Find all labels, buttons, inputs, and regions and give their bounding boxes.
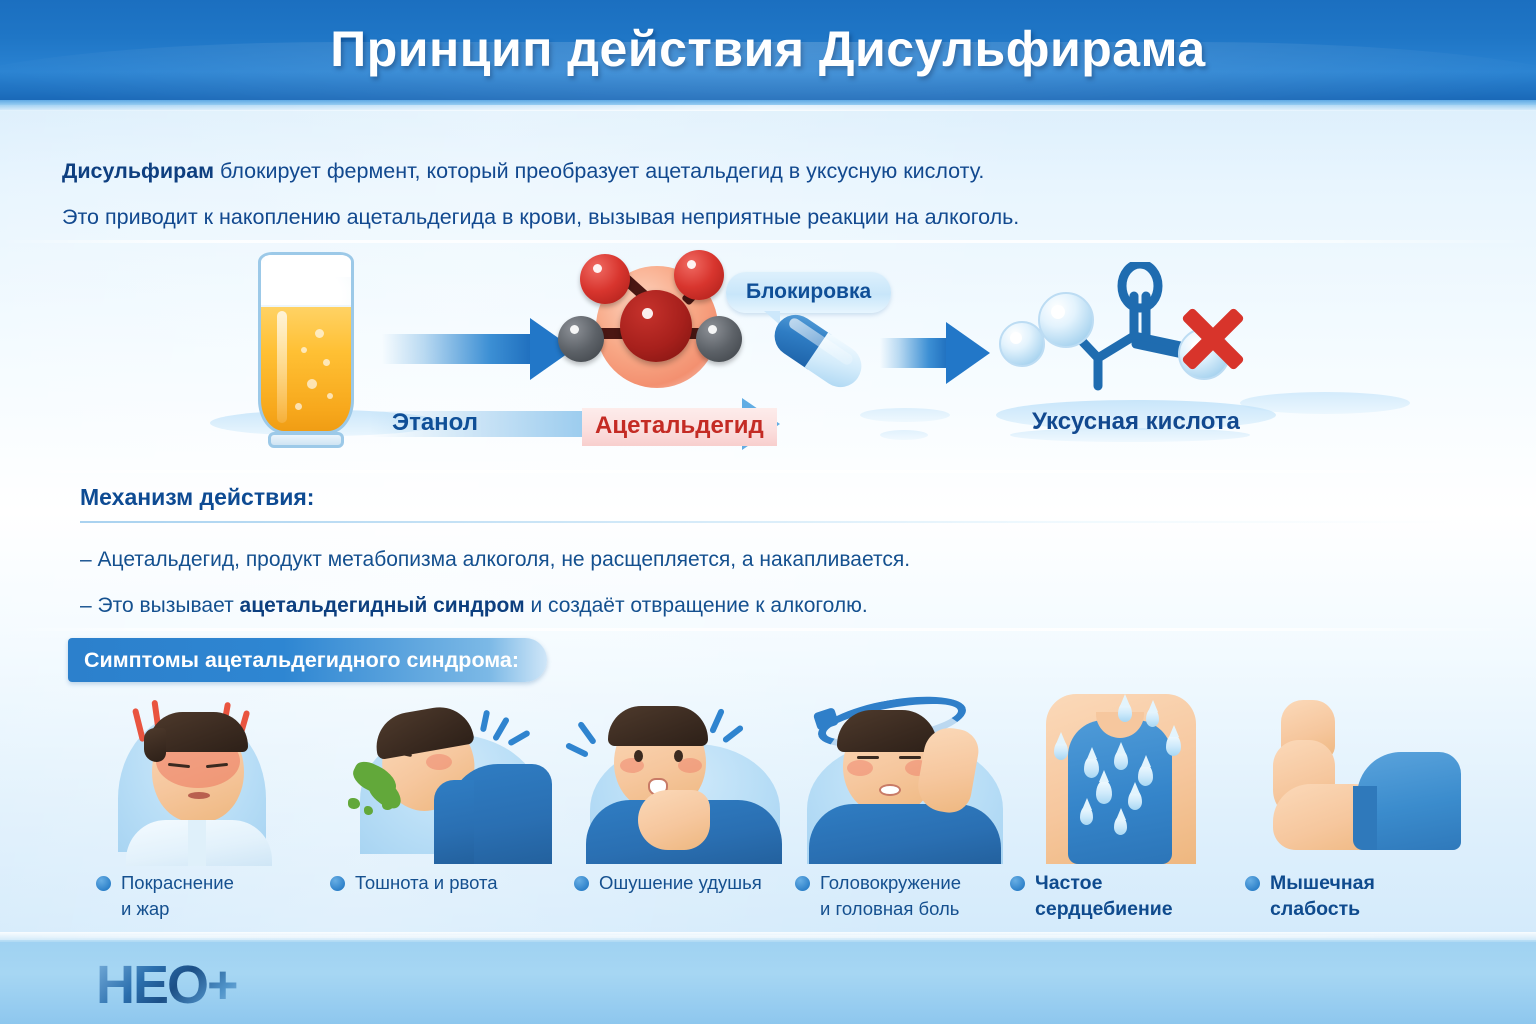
section-divider-mid xyxy=(0,470,1536,473)
header-edge-highlight xyxy=(0,105,1536,111)
hydrogen-sphere xyxy=(1000,322,1044,366)
arrow-ethanol-to-acetaldehyde xyxy=(382,318,574,380)
bubble xyxy=(315,329,324,338)
beer-glass-icon xyxy=(252,252,360,442)
intro-line-1: Дисульфирам блокирует фермент, который п… xyxy=(62,148,1462,194)
symptom-caption: Тошнота и рвота xyxy=(330,870,570,896)
flexed-arm-icon xyxy=(1245,694,1475,864)
bullet-dash: – xyxy=(80,548,92,571)
symptom-card-dizzy: Головокружениеи головная боль xyxy=(795,694,1025,944)
mechanism-item-2: – Это вызывает ацетальдегидный синдром и… xyxy=(80,583,1460,629)
vomiting-person-icon xyxy=(330,694,560,864)
beer-foam xyxy=(261,255,351,307)
hydrogen-atom-icon xyxy=(558,316,604,362)
bullet-dash: – xyxy=(80,594,92,617)
bubble xyxy=(327,393,333,399)
symptom-card-vomit: Тошнота и рвота xyxy=(330,694,560,944)
intro-drug-name: Дисульфирам xyxy=(62,159,214,183)
glass-shine xyxy=(277,311,287,423)
bubble xyxy=(295,403,302,410)
glass-body xyxy=(258,252,354,434)
mechanism-rule xyxy=(80,521,1460,523)
bullet-dot-icon xyxy=(330,876,345,891)
bubble xyxy=(323,359,330,366)
intro-line-2: Это приводит к накоплению ацетальдегида … xyxy=(62,194,1462,240)
page-header: Принцип действия Дисульфирама xyxy=(0,0,1536,100)
bullet-dot-icon xyxy=(1010,876,1025,891)
mechanism-list: – Ацетальдегид, продукт метабопизма алко… xyxy=(80,537,1460,629)
brand-logo: НЕО+ xyxy=(96,954,237,1016)
intro-line-1-rest: блокирует фермент, который преобразует а… xyxy=(214,159,984,183)
symptom-caption: Покраснениеи жар xyxy=(96,870,336,922)
symptom-caption: Ошушение удушья xyxy=(574,870,814,896)
acetic-acid-label: Уксусная кислота xyxy=(1032,408,1240,436)
symptom-caption: Частоесердцебиение xyxy=(1010,870,1250,922)
symptom-label: Головокружениеи головная боль xyxy=(820,870,961,922)
mechanism-item-1-text: Ацетальдегид, продукт метабопизма алкого… xyxy=(98,548,911,571)
oxygen-atom-icon xyxy=(580,254,630,304)
puddle-mid-2 xyxy=(880,430,928,440)
bullet-dot-icon xyxy=(795,876,810,891)
blocked-x-icon xyxy=(1176,302,1250,376)
symptom-caption: Головокружениеи головная боль xyxy=(795,870,1035,922)
symptom-label: Ошушение удушья xyxy=(599,870,762,896)
block-badge: Блокировка xyxy=(726,272,891,313)
glass-base xyxy=(268,432,344,448)
puddle-mid xyxy=(860,408,950,422)
mechanism-section: Механизм действия: – Ацетальдегид, проду… xyxy=(80,484,1460,629)
acetic-acid-molecule-icon xyxy=(994,262,1284,392)
bubble xyxy=(301,347,307,353)
carbon-atom-icon xyxy=(620,290,692,362)
puddle-right-2 xyxy=(1240,392,1410,414)
sweating-torso-icon xyxy=(1010,694,1240,864)
page-footer: НЕО+ xyxy=(0,940,1536,1024)
mechanism-item-1: – Ацетальдегид, продукт метабопизма алко… xyxy=(80,537,1460,583)
symptom-label: Частоесердцебиение xyxy=(1035,870,1173,922)
flushed-face-icon xyxy=(96,694,326,864)
symptom-card-weakness: Мышечнаяслабость xyxy=(1245,694,1475,944)
symptom-card-heartbeat: Частоесердцебиение xyxy=(1010,694,1240,944)
symptom-card-choking: Ошушение удушья xyxy=(574,694,804,944)
intro-text-block: Дисульфирам блокирует фермент, который п… xyxy=(62,148,1462,240)
ethanol-label: Этанол xyxy=(392,409,478,437)
mechanism-item-2-pre: Это вызывает xyxy=(98,594,240,617)
symptom-caption: Мышечнаяслабость xyxy=(1245,870,1485,922)
mechanism-heading: Механизм действия: xyxy=(80,484,1460,511)
carbon-sphere xyxy=(1039,293,1093,347)
sleeve-fold xyxy=(1353,786,1377,850)
symptoms-banner: Симптомы ацетальдегидного синдрома: xyxy=(68,638,547,682)
acetaldehyde-molecule-icon xyxy=(556,258,756,393)
bullet-dot-icon xyxy=(574,876,589,891)
carbonyl-oxygen xyxy=(1122,264,1158,308)
mechanism-item-2-post: и создаёт отвращение к алкоголю. xyxy=(525,594,868,617)
hydrogen-atom-icon xyxy=(696,316,742,362)
symptoms-row: Покраснениеи жар xyxy=(0,694,1536,944)
mechanism-item-2-bold: ацетальдегидный синдром xyxy=(240,594,525,617)
infographic-page: Принцип действия Дисульфирама Дисульфира… xyxy=(0,0,1536,1024)
bullet-dot-icon xyxy=(1245,876,1260,891)
symptom-label: Покраснениеи жар xyxy=(121,870,234,922)
footer-top-edge xyxy=(0,932,1536,942)
choking-person-icon xyxy=(574,694,804,864)
symptom-label: Мышечнаяслабость xyxy=(1270,870,1375,922)
dizzy-headache-icon xyxy=(795,694,1025,864)
arrow-to-acetic-acid xyxy=(880,322,990,384)
bubble xyxy=(307,379,317,389)
bullet-dot-icon xyxy=(96,876,111,891)
page-title: Принцип действия Дисульфирама xyxy=(0,20,1536,78)
symptom-card-flushed: Покраснениеи жар xyxy=(96,694,326,944)
oxygen-atom-icon xyxy=(674,250,724,300)
symptom-label: Тошнота и рвота xyxy=(355,870,498,896)
acetaldehyde-label: Ацетальдегид xyxy=(582,408,777,446)
